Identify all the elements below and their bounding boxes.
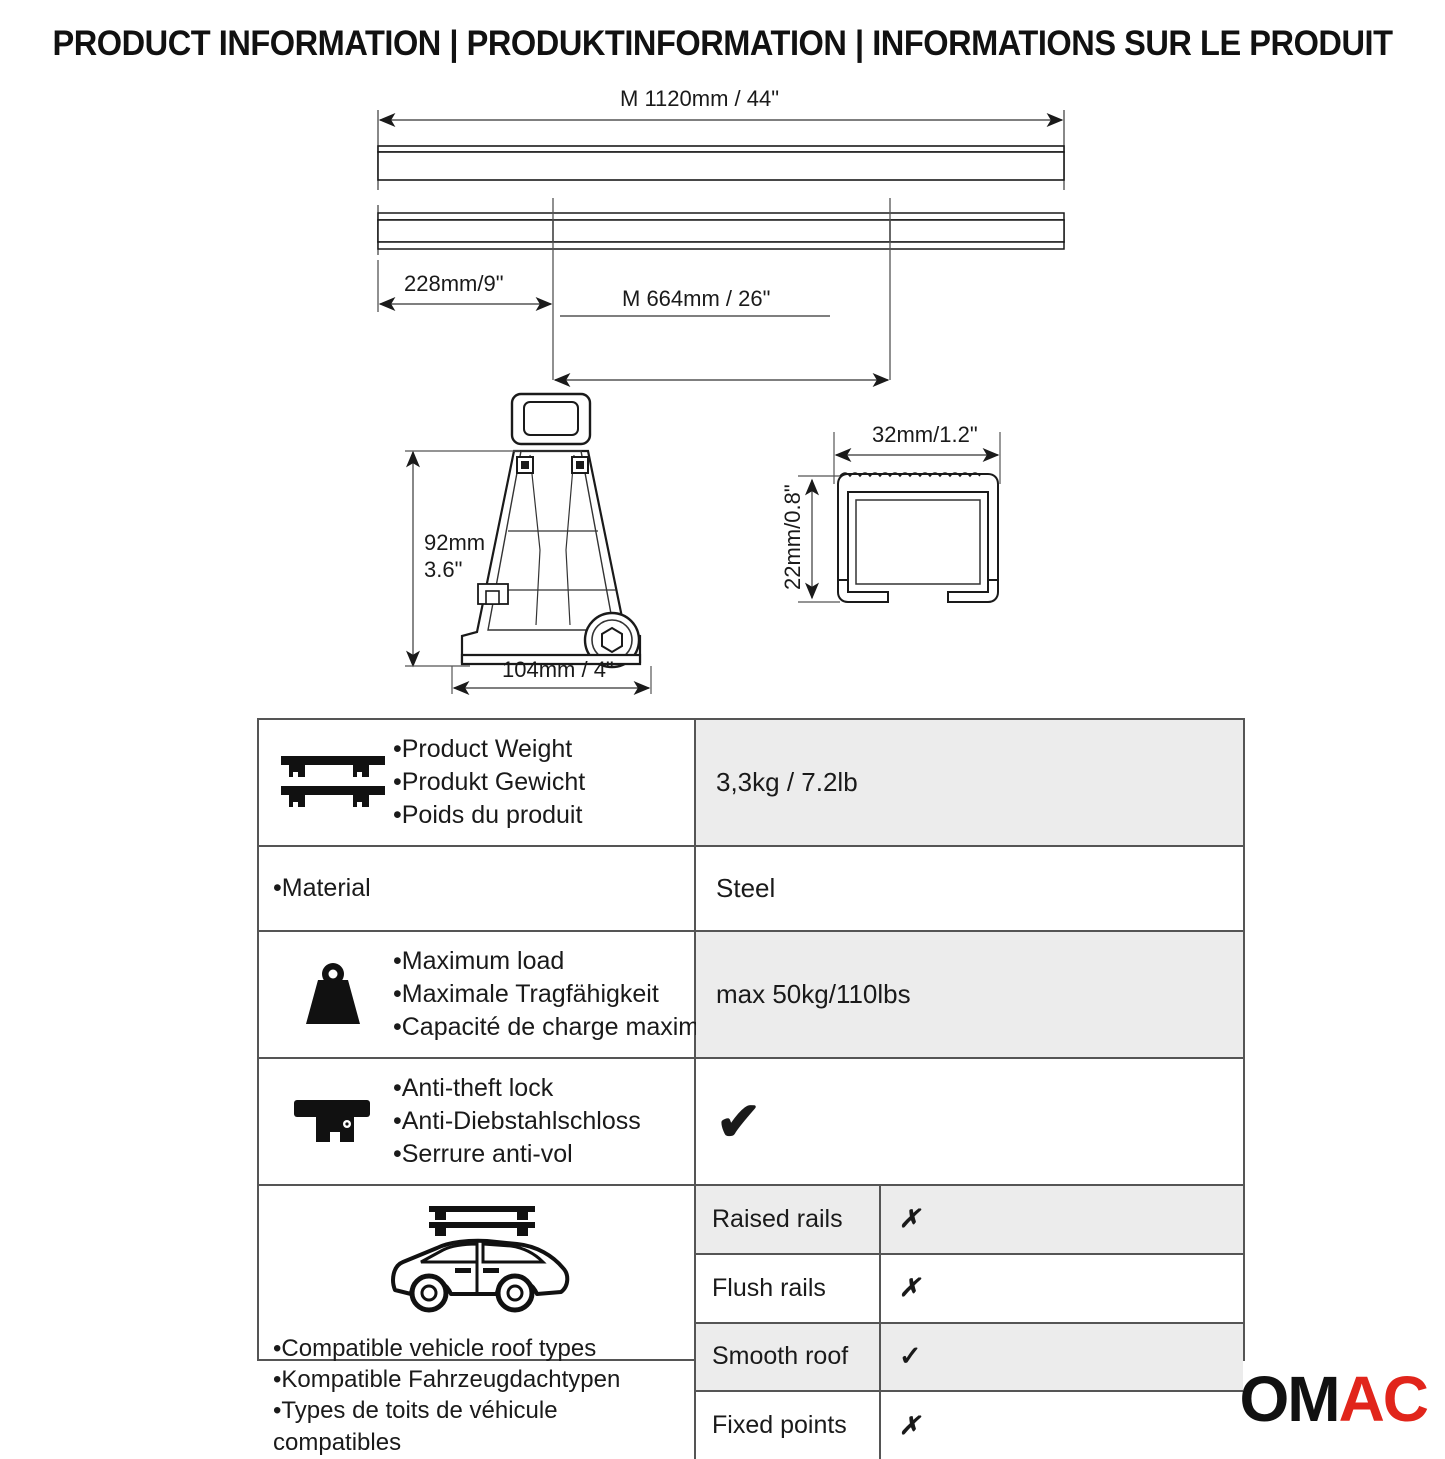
roof-types-list: Raised rails ✗ Flush rails ✗ Smooth roof…	[696, 1186, 1243, 1459]
label-line: •Types de toits de véhicule	[273, 1395, 620, 1426]
roof-type-mark: ✗	[881, 1392, 1243, 1459]
crossbar-side-view	[378, 146, 1064, 180]
row-value-anti-theft-lock: ✔	[696, 1059, 1243, 1184]
roof-type-name: Smooth roof	[696, 1324, 881, 1391]
dim-foot-width: 104mm / 4"	[502, 657, 614, 682]
check-icon: ✓	[899, 1341, 922, 1372]
label-line: •Material	[273, 872, 371, 905]
roof-type-mark: ✓	[881, 1324, 1243, 1391]
foot-tower-front-view	[462, 394, 640, 667]
dim-profile-height: 22mm/0.8"	[780, 484, 805, 590]
logo-text-om: OM	[1239, 1363, 1338, 1435]
dim-foot-height-mm: 92mm	[424, 530, 485, 555]
page-title: PRODUCT INFORMATION | PRODUKTINFORMATION…	[51, 24, 1395, 64]
label-line: •Anti-Diebstahlschloss	[393, 1105, 641, 1138]
row-label-cell: •Product Weight •Produkt Gewicht •Poids …	[259, 720, 696, 845]
roof-types-label-cell: •Compatible vehicle roof types •Kompatib…	[259, 1186, 696, 1459]
roof-type-name: Fixed points	[696, 1392, 881, 1459]
row-value-product-weight: 3,3kg / 7.2lb	[696, 720, 1243, 845]
table-row-compatible-roof-types: •Compatible vehicle roof types •Kompatib…	[259, 1186, 1243, 1459]
rail-cross-section	[838, 473, 998, 602]
cross-icon: ✗	[899, 1411, 920, 1441]
dim-profile-width: 32mm/1.2"	[872, 422, 978, 447]
roof-types-label-texts: •Compatible vehicle roof types •Kompatib…	[259, 1333, 620, 1458]
row-label-cell: •Material	[259, 847, 696, 930]
label-line: •Serrure anti-vol	[393, 1138, 641, 1171]
roof-bars-icon	[273, 752, 393, 814]
roof-type-raised-rails: Raised rails ✗	[696, 1186, 1243, 1255]
row-label-texts: •Anti-theft lock •Anti-Diebstahlschloss …	[393, 1072, 641, 1172]
label-line: •Produkt Gewicht	[393, 766, 585, 799]
product-information-sheet: PRODUCT INFORMATION | PRODUKTINFORMATION…	[0, 0, 1445, 1445]
label-line: •Product Weight	[393, 733, 585, 766]
roof-type-flush-rails: Flush rails ✗	[696, 1255, 1243, 1324]
roof-type-mark: ✗	[881, 1186, 1243, 1253]
roof-type-fixed-points: Fixed points ✗	[696, 1392, 1243, 1459]
row-label-texts: •Material	[273, 872, 371, 905]
row-label-cell: •Maximum load •Maximale Tragfähigkeit •C…	[259, 932, 696, 1057]
cross-icon: ✗	[899, 1273, 920, 1303]
roof-type-mark: ✗	[881, 1255, 1243, 1322]
table-row-maximum-load: •Maximum load •Maximale Tragfähigkeit •C…	[259, 932, 1243, 1059]
label-line: •Kompatible Fahrzeugdachtypen	[273, 1364, 620, 1395]
dim-foot-height-in: 3.6"	[424, 557, 462, 582]
row-label-texts: •Product Weight •Produkt Gewicht •Poids …	[393, 733, 585, 833]
row-value-maximum-load: max 50kg/110lbs	[696, 932, 1243, 1057]
label-line: compatibles	[273, 1427, 620, 1458]
row-label-texts: •Maximum load •Maximale Tragfähigkeit •C…	[393, 945, 732, 1045]
roof-type-smooth-roof: Smooth roof ✓	[696, 1324, 1243, 1393]
table-row-product-weight: •Product Weight •Produkt Gewicht •Poids …	[259, 720, 1243, 847]
label-line: •Maximale Tragfähigkeit	[393, 978, 732, 1011]
specification-table: •Product Weight •Produkt Gewicht •Poids …	[257, 718, 1245, 1361]
header: PRODUCT INFORMATION | PRODUKTINFORMATION…	[0, 24, 1445, 64]
row-value-material: Steel	[696, 847, 1243, 930]
row-label-cell: •Anti-theft lock •Anti-Diebstahlschloss …	[259, 1059, 696, 1184]
table-row-material: •Material Steel	[259, 847, 1243, 932]
label-line: •Poids du produit	[393, 799, 585, 832]
dim-bar-length: M 1120mm / 44"	[620, 86, 779, 111]
label-line: •Compatible vehicle roof types	[273, 1333, 620, 1364]
dim-spread: M 664mm / 26"	[622, 286, 770, 311]
cross-icon: ✗	[899, 1204, 920, 1234]
lock-icon	[273, 1094, 393, 1150]
weight-icon	[273, 962, 393, 1028]
label-line: •Anti-theft lock	[393, 1072, 641, 1105]
label-line: •Maximum load	[393, 945, 732, 978]
label-line: •Capacité de charge maximale	[393, 1011, 732, 1044]
logo-text-ac: AC	[1339, 1363, 1427, 1435]
check-icon: ✔	[716, 1095, 761, 1149]
omac-logo: OMAC	[1239, 1367, 1427, 1431]
dim-end-offset: 228mm/9"	[404, 271, 504, 296]
car-with-rack-icon	[377, 1200, 577, 1323]
roof-type-name: Flush rails	[696, 1255, 881, 1322]
technical-drawing: M 1120mm / 44" 228mm	[0, 80, 1445, 705]
table-row-anti-theft-lock: •Anti-theft lock •Anti-Diebstahlschloss …	[259, 1059, 1243, 1186]
roof-type-name: Raised rails	[696, 1186, 881, 1253]
